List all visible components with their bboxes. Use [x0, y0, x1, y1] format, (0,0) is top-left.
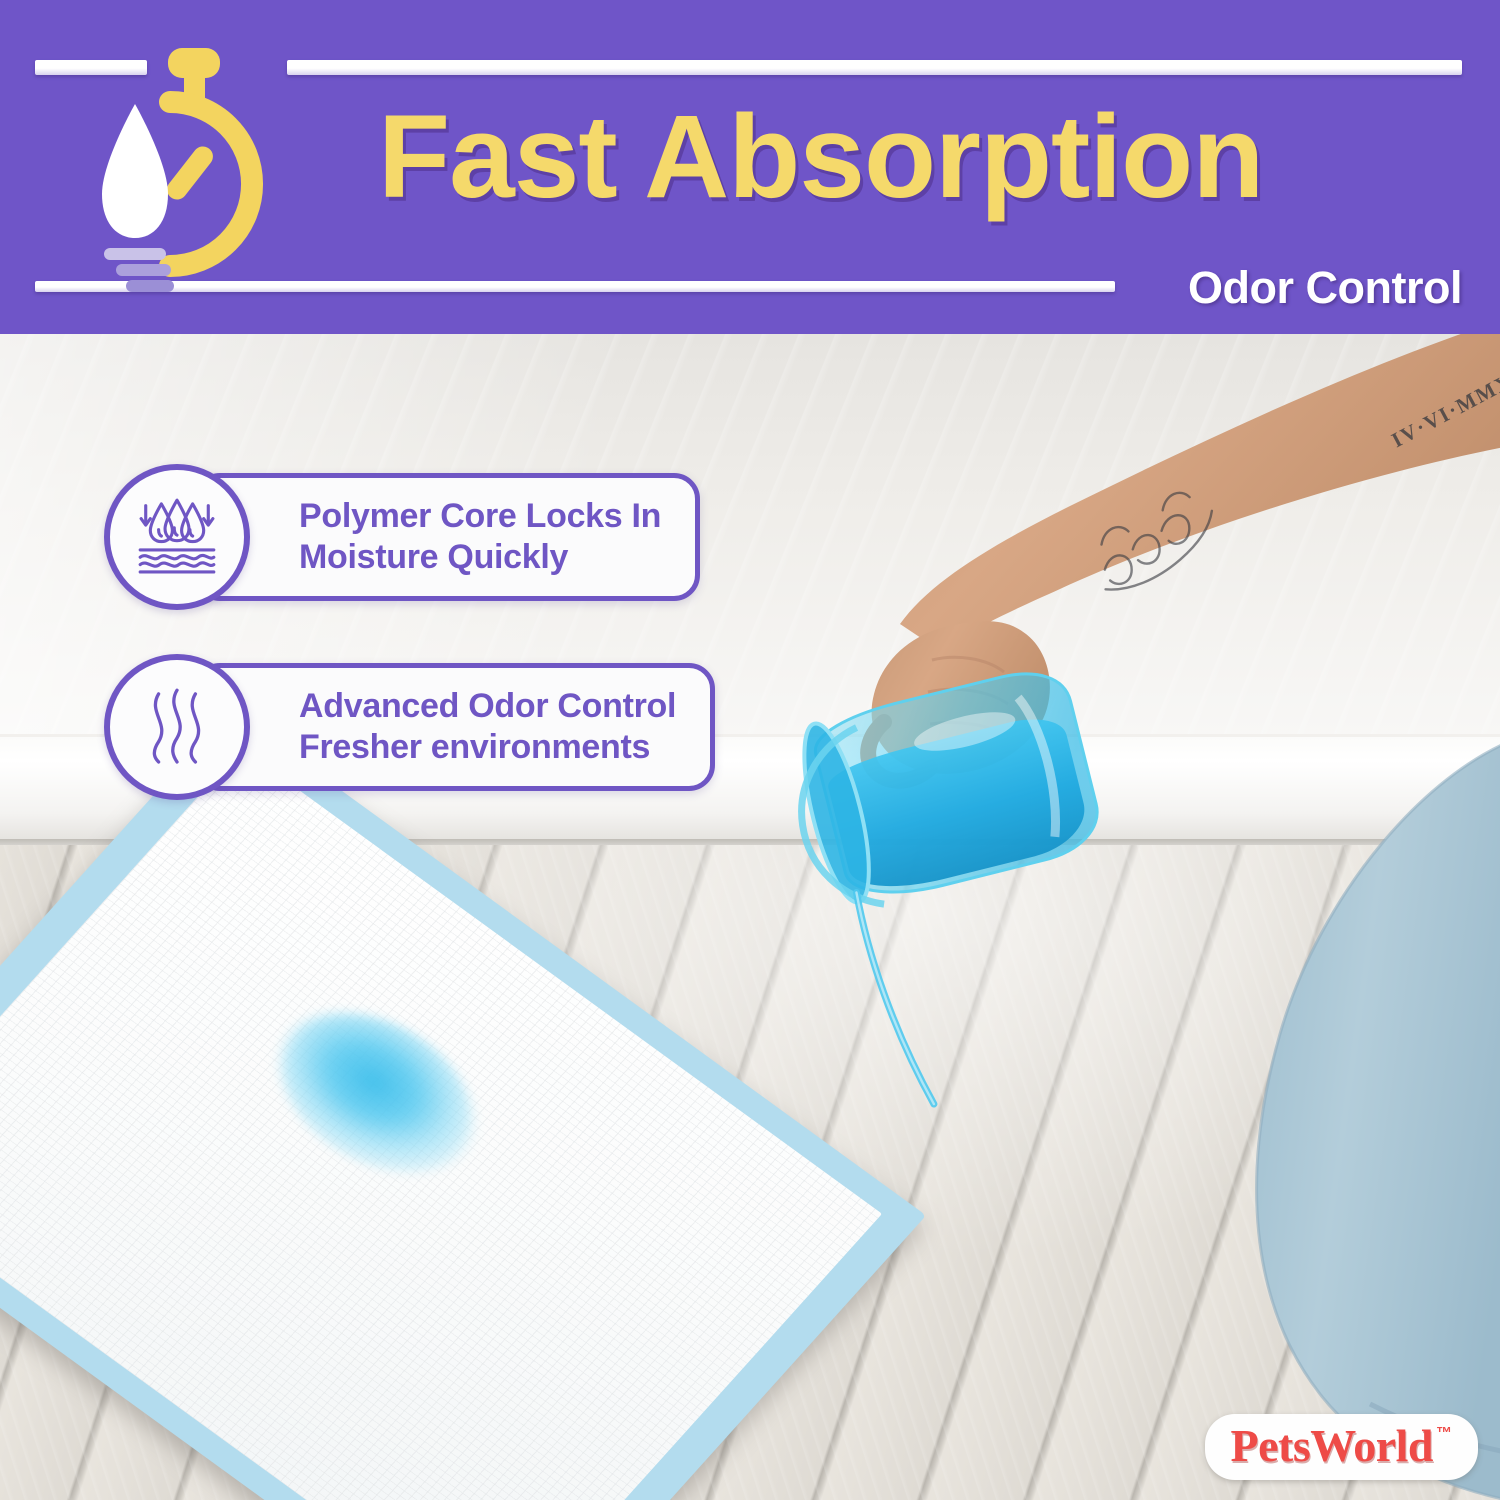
denim-knee [1130, 704, 1500, 1500]
brand-name: PetsWorld [1231, 1423, 1433, 1469]
banner-subtitle: Odor Control [1188, 262, 1462, 314]
trademark-symbol: ™ [1436, 1425, 1452, 1443]
product-marketing-image: Fast Absorption Odor Control [0, 0, 1500, 1500]
banner-top-right-rule [287, 60, 1462, 75]
feature-badge-label: Advanced Odor Control Fresher environmen… [299, 686, 676, 769]
pad-border [0, 710, 926, 1500]
brand-logo[interactable]: PetsWorld ™ [1205, 1414, 1478, 1480]
droplets-absorbing-into-layers-icon [104, 464, 250, 610]
product-photo: IV·VI·MMXXIII [0, 334, 1500, 1500]
feature-badge-label: Polymer Core Locks In Moisture Quickly [299, 496, 661, 579]
water-drop-stopwatch-icon [72, 42, 287, 292]
feature-badge-odor-control[interactable]: Advanced Odor Control Fresher environmen… [104, 654, 715, 800]
absorbed-liquid-stain [246, 980, 506, 1205]
odor-waves-icon [104, 654, 250, 800]
feature-badge-plate: Polymer Core Locks In Moisture Quickly [194, 473, 700, 602]
feature-badge-polymer-core[interactable]: Polymer Core Locks In Moisture Quickly [104, 464, 700, 610]
pad-surface [0, 748, 882, 1500]
feature-badge-plate: Advanced Odor Control Fresher environmen… [194, 663, 715, 792]
header-banner: Fast Absorption Odor Control [0, 0, 1500, 334]
page-title: Fast Absorption [378, 98, 1438, 216]
